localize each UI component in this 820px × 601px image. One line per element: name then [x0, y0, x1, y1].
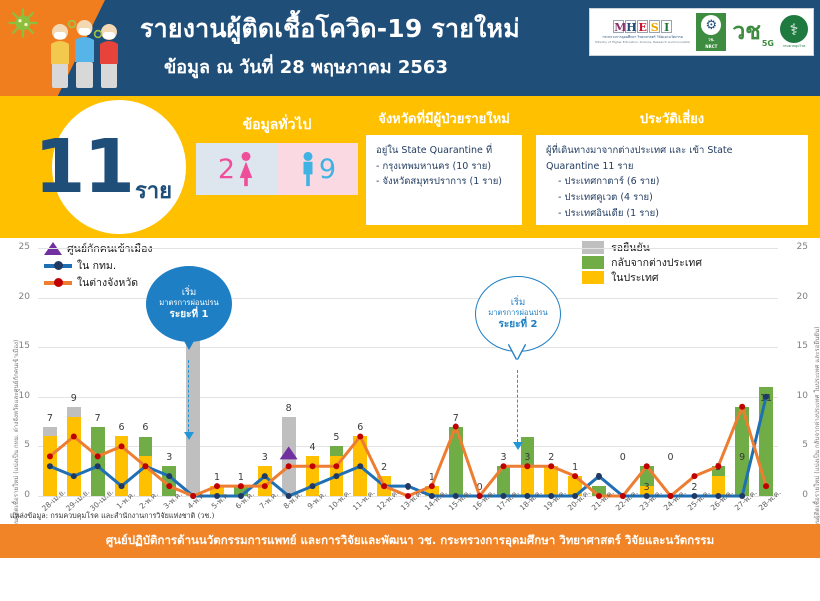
nrct-logo: ⚙ วช. NRCT: [696, 13, 726, 51]
y-axis-tick: 20: [10, 292, 30, 302]
y-axis-tick: 0: [10, 490, 30, 500]
mhesi-letter: M: [613, 20, 624, 33]
nrct-sub: NRCT: [705, 44, 717, 49]
line-marker: [262, 483, 268, 489]
mhesi-letter: H: [625, 20, 636, 33]
risk-item: - ประเทศคูเวต (4 ราย): [546, 190, 798, 206]
risk-item: - ประเทศอินเดีย (1 ราย): [546, 206, 798, 222]
risk-lead-1: ผู้ที่เดินทางมาจากต่างประเทศ และ เข้า St…: [546, 143, 798, 159]
provinces-lead: อยู่ใน State Quarantine ที่: [376, 143, 512, 159]
line-marker: [47, 463, 53, 469]
moph-caption: กรมควบคุมโรค: [783, 44, 806, 49]
callout-line: มาตรการผ่อนปรน: [488, 308, 548, 317]
line-marker: [644, 463, 650, 469]
callout-arrowhead: [184, 432, 194, 440]
callout-line: ระยะที่ 1: [169, 309, 208, 322]
mhesi-letter: I: [661, 20, 672, 33]
line-marker: [142, 463, 148, 469]
line-marker: [95, 463, 101, 469]
y-axis-tick: 15: [788, 341, 808, 351]
callout-pointer-line: [517, 370, 518, 442]
mhesi-letter: S: [649, 20, 660, 33]
callout-pointer-line: [188, 360, 189, 432]
risk-history-panel: ผู้ที่เดินทางมาจากต่างประเทศ และ เข้า St…: [536, 135, 808, 225]
risk-history-title: ประวัติเสี่ยง: [536, 108, 808, 129]
source-note: แหล่งข้อมูล: กรมควบคุมโรค และสำนักงานการ…: [10, 511, 214, 522]
male-count: 9: [319, 154, 336, 185]
line-series-provincial: [50, 407, 766, 496]
callout-line: เริ่ม: [511, 297, 526, 309]
header-title-block: รายงานผู้ติดเชื้อโควิด-19 รายใหม่ ข้อมูล…: [140, 14, 520, 81]
chart-area: จำนวนผู้ติดเชื้อรายใหม่ (แบ่งเป็น กทม. ต…: [0, 238, 820, 558]
general-info-title: ข้อมูลทั่วไป: [196, 114, 358, 136]
callout-line: มาตรการผ่อนปรน: [159, 298, 219, 307]
wch-5g-tag: 5G: [762, 39, 774, 48]
wch-mark: วช: [732, 14, 761, 50]
y-axis-right-title: จำนวนผู้ติดเชื้อรายใหม่ (แบ่งเป็น กลับจา…: [812, 326, 820, 538]
line-marker: [715, 463, 721, 469]
line-marker: [763, 483, 769, 489]
female-icon: [237, 150, 255, 188]
line-marker: [524, 463, 530, 469]
line-marker: [405, 483, 411, 489]
line-marker: [286, 463, 292, 469]
female-count: 2: [218, 154, 235, 185]
line-marker: [381, 483, 387, 489]
line-marker: [357, 433, 363, 439]
nrct-abbr: วช.: [708, 36, 714, 43]
callout-line: เริ่ม: [182, 287, 197, 299]
line-marker: [71, 473, 77, 479]
risk-lead-2: Quarantine 11 ราย: [546, 159, 798, 175]
callout-line: ระยะที่ 2: [498, 319, 537, 332]
provinces-block: จังหวัดที่มีผู้ป่วยรายใหม่ อยู่ใน State …: [366, 108, 522, 225]
line-marker: [548, 463, 554, 469]
province-item: - กรุงเทพมหานคร (10 ราย): [376, 159, 512, 175]
total-cases-number: 11: [34, 133, 133, 201]
mhesi-letter: E: [637, 20, 648, 33]
line-marker: [119, 443, 125, 449]
logo-strip: M H E S I กระทรวงการอุดมศึกษา วิทยาศาสตร…: [589, 8, 814, 56]
total-cases-unit: ราย: [135, 173, 172, 208]
provinces-panel: อยู่ใน State Quarantine ที่ - กรุงเทพมหา…: [366, 135, 522, 225]
line-marker: [500, 463, 506, 469]
line-marker: [572, 473, 578, 479]
line-marker: [262, 473, 268, 479]
y-axis-tick: 0: [788, 490, 808, 500]
female-count-cell: 2: [196, 143, 277, 195]
callout-tail: [509, 344, 525, 359]
line-marker: [310, 463, 316, 469]
people-group-icon: [46, 20, 128, 90]
line-marker: [47, 453, 53, 459]
line-marker: [333, 473, 339, 479]
virus-icon: [8, 8, 38, 38]
line-marker: [310, 483, 316, 489]
y-axis-tick: 10: [788, 391, 808, 401]
y-axis-tick: 25: [10, 242, 30, 252]
mhesi-logo: M H E S I กระทรวงการอุดมศึกษา วิทยาศาสตร…: [595, 20, 690, 44]
y-axis-tick: 10: [10, 391, 30, 401]
line-marker: [429, 483, 435, 489]
moph-logo: ⚕ กรมควบคุมโรค: [780, 15, 808, 49]
provinces-title: จังหวัดที่มีผู้ป่วยรายใหม่: [366, 108, 522, 129]
line-marker: [119, 483, 125, 489]
chart-callout: เริ่มมาตรการผ่อนปรนระยะที่ 2: [475, 276, 561, 352]
callout-arrowhead: [513, 442, 523, 450]
line-marker: [453, 424, 459, 430]
province-item: - จังหวัดสมุทรปราการ (1 ราย): [376, 174, 512, 190]
risk-history-block: ประวัติเสี่ยง ผู้ที่เดินทางมาจากต่างประเ…: [536, 108, 808, 225]
line-marker: [357, 463, 363, 469]
caduceus-icon: ⚕: [780, 15, 808, 43]
chart-plot: 797663181138456201703321303023911 เริ่มม…: [38, 248, 778, 496]
page-title: รายงานผู้ติดเชื้อโควิด-19 รายใหม่: [140, 14, 520, 44]
y-axis-tick: 15: [10, 341, 30, 351]
line-marker: [166, 483, 172, 489]
wch-5g-logo: วช 5G: [732, 14, 774, 50]
general-info-block: ข้อมูลทั่วไป 2 9: [196, 114, 358, 195]
chart-callout: เริ่มมาตรการผ่อนปรนระยะที่ 1: [146, 266, 232, 342]
y-axis-tick: 20: [788, 292, 808, 302]
male-count-cell: 9: [277, 143, 358, 195]
y-axis-tick: 25: [788, 242, 808, 252]
line-marker: [763, 394, 769, 400]
male-icon: [299, 150, 317, 188]
line-marker: [596, 473, 602, 479]
line-marker: [333, 463, 339, 469]
page-subtitle: ข้อมูล ณ วันที่ 28 พฤษภาคม 2563: [164, 52, 520, 81]
mhesi-caption-en: Ministry of Higher Education, Science, R…: [595, 40, 690, 44]
y-axis-tick: 5: [788, 440, 808, 450]
page-footer: ศูนย์ปฏิบัติการด้านนวัตกรรมการแพทย์ และก…: [0, 524, 820, 558]
total-cases-circle: 11 ราย: [52, 100, 186, 234]
line-marker: [214, 483, 220, 489]
line-marker: [95, 453, 101, 459]
line-marker: [691, 473, 697, 479]
line-marker: [238, 483, 244, 489]
page-header: รายงานผู้ติดเชื้อโควิด-19 รายใหม่ ข้อมูล…: [0, 0, 820, 96]
risk-item: - ประเทศกาตาร์ (6 ราย): [546, 174, 798, 190]
line-marker: [739, 404, 745, 410]
chart-line-overlay: [38, 248, 778, 496]
summary-band: 11 ราย ข้อมูลทั่วไป 2 9 จังหวัดที่มีผู้ป: [0, 96, 820, 238]
line-marker: [71, 433, 77, 439]
y-axis-left-title: จำนวนผู้ติดเชื้อรายใหม่ (แบ่งเป็น กทม. ต…: [11, 340, 21, 538]
gear-icon: ⚙: [701, 15, 721, 35]
y-axis-tick: 5: [10, 440, 30, 450]
detention-center-marker: [280, 446, 298, 459]
callout-tail: [180, 334, 198, 350]
line-marker: [166, 473, 172, 479]
